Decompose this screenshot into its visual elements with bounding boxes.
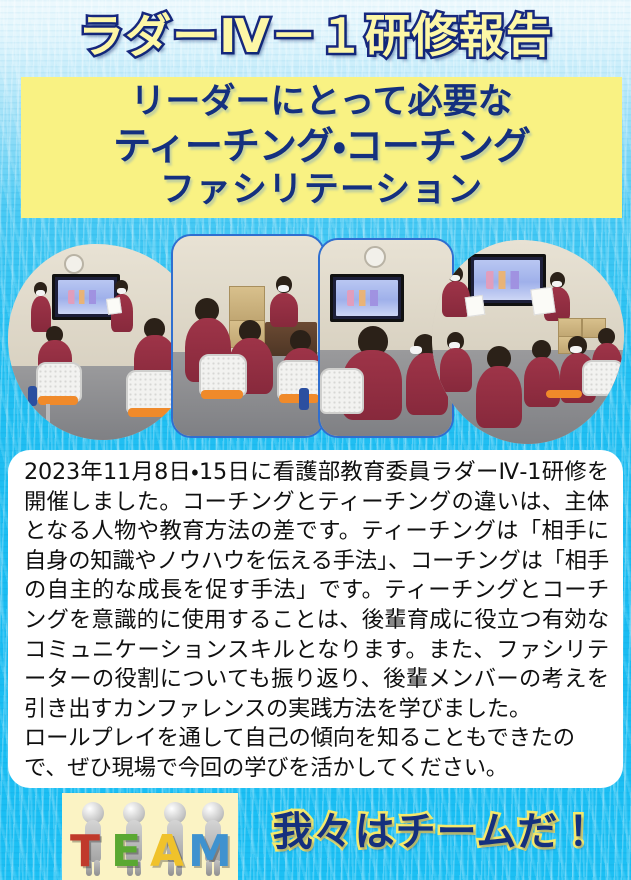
team-letter-e: E (111, 830, 141, 874)
poster-canvas: ラダーⅣ－１研修報告 リーダーにとって必要な ティーチング・コーチング ファシリ… (0, 0, 631, 880)
team-logo: T E A M (62, 793, 238, 880)
body-paragraph-1: 2023年11月8日・15日に看護部教育委員ラダーⅣ-1研修を開催しました。コー… (24, 458, 609, 724)
team-letter-t: T (70, 830, 100, 874)
subtitle-banner: リーダーにとって必要な ティーチング・コーチング ファシリテーション (22, 78, 621, 217)
subtitle-line-1: リーダーにとって必要な (22, 78, 621, 123)
team-letter-a: A (150, 830, 184, 874)
footer-tagline: 我々はチームだ！ (246, 806, 626, 858)
body-text-card: 2023年11月8日・15日に看護部教育委員ラダーⅣ-1研修を開催しました。コー… (8, 450, 623, 788)
photo-group-work (432, 240, 624, 444)
body-paragraph-2: ロールプレイを通して自己の傾向を知ることもできたので、ぜひ現場で今回の学びを活か… (24, 724, 609, 783)
team-letter-m: M (188, 830, 232, 874)
subtitle-line-2: ティーチング・コーチング (22, 123, 621, 168)
page-title: ラダーⅣ－１研修報告 (0, 8, 631, 64)
photo-collage (0, 222, 631, 452)
photo-presenters-at-screen (8, 244, 198, 440)
photo-speaker-at-podium (171, 234, 325, 438)
subtitle-line-3: ファシリテーション (22, 168, 621, 212)
